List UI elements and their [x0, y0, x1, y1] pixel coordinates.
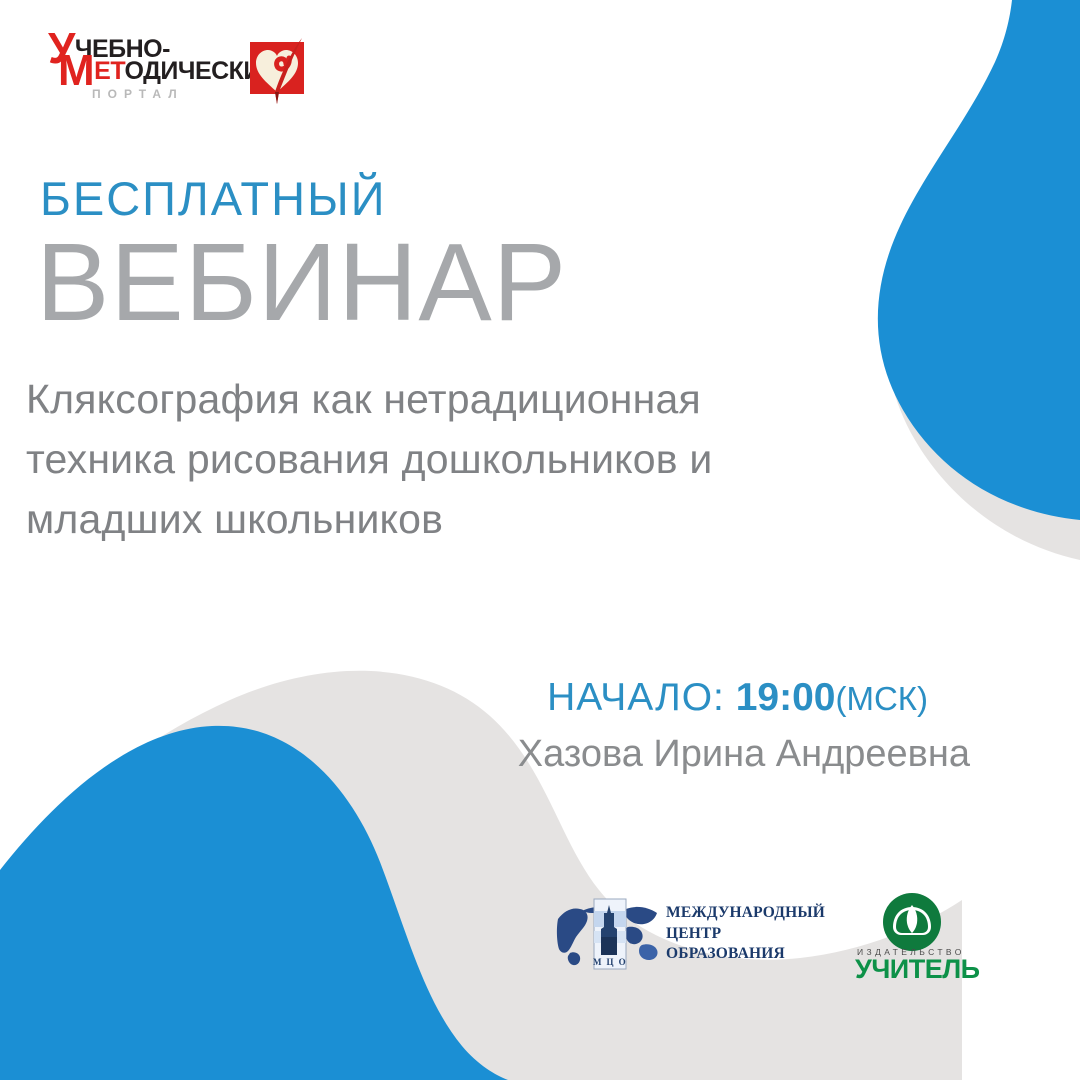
mco-line-2: ЦЕНТР — [666, 924, 825, 945]
top-right-gray-wave — [886, 0, 1080, 560]
subtitle-line-1: Кляксография как нетрадиционная — [26, 370, 886, 430]
uchitel-logo[interactable]: ИЗДАТЕЛЬСТВО УЧИТЕЛЬ — [851, 893, 971, 985]
page-kicker: БЕСПЛАТНЫЙ — [40, 175, 386, 222]
start-label: НАЧАЛО: — [547, 676, 725, 719]
uchitel-wordmark: УЧИТЕЛЬ — [855, 956, 980, 983]
subtitle-line-2: техника рисования дошкольников и — [26, 430, 886, 490]
speaker-name: Хазова Ирина Андреевна — [518, 735, 970, 773]
partner-logos: М Ц О МЕЖДУНАРОДНЫЙ ЦЕНТР ОБРАЗОВАНИЯ ИЗ… — [556, 893, 971, 985]
timezone-label: (МСК) — [835, 680, 928, 717]
logo-line-2-red: ЕТ — [94, 57, 124, 85]
logo-line-3: ПОРТАЛ — [92, 88, 184, 100]
page-title: ВЕБИНАР — [36, 228, 567, 338]
mco-mark-label: М Ц О — [593, 957, 627, 967]
subtitle-line-3: младших школьников — [26, 490, 886, 550]
webinar-subtitle: Кляксография как нетрадиционная техника … — [26, 370, 886, 550]
site-logo[interactable]: УЧЕБНО- МЕТОДИЧЕСКИЙ ПОРТАЛ — [48, 34, 316, 110]
mco-wordmark: МЕЖДУНАРОДНЫЙ ЦЕНТР ОБРАЗОВАНИЯ — [666, 903, 825, 965]
logo-wordmark: УЧЕБНО- МЕТОДИЧЕСКИЙ ПОРТАЛ — [48, 34, 238, 110]
logo-accent-m: М — [58, 46, 94, 95]
start-time-line: НАЧАЛО: 19:00(МСК) — [547, 678, 928, 717]
mco-line-3: ОБРАЗОВАНИЯ — [666, 944, 825, 965]
uchitel-book-emblem-icon — [881, 893, 943, 951]
mco-logo[interactable]: М Ц О МЕЖДУНАРОДНЫЙ ЦЕНТР ОБРАЗОВАНИЯ — [556, 893, 825, 975]
heart-with-quill-logo — [246, 34, 316, 110]
webinar-poster: УЧЕБНО- МЕТОДИЧЕСКИЙ ПОРТАЛ БЕСПЛАТНЫЙ В… — [0, 0, 1080, 1080]
top-right-blue-wave — [878, 0, 1080, 520]
start-time-value: 19:00 — [736, 676, 836, 719]
mco-line-1: МЕЖДУНАРОДНЫЙ — [666, 903, 825, 924]
mco-globe-icon: М Ц О — [556, 893, 660, 975]
bottom-left-blue-wave — [0, 726, 508, 1080]
